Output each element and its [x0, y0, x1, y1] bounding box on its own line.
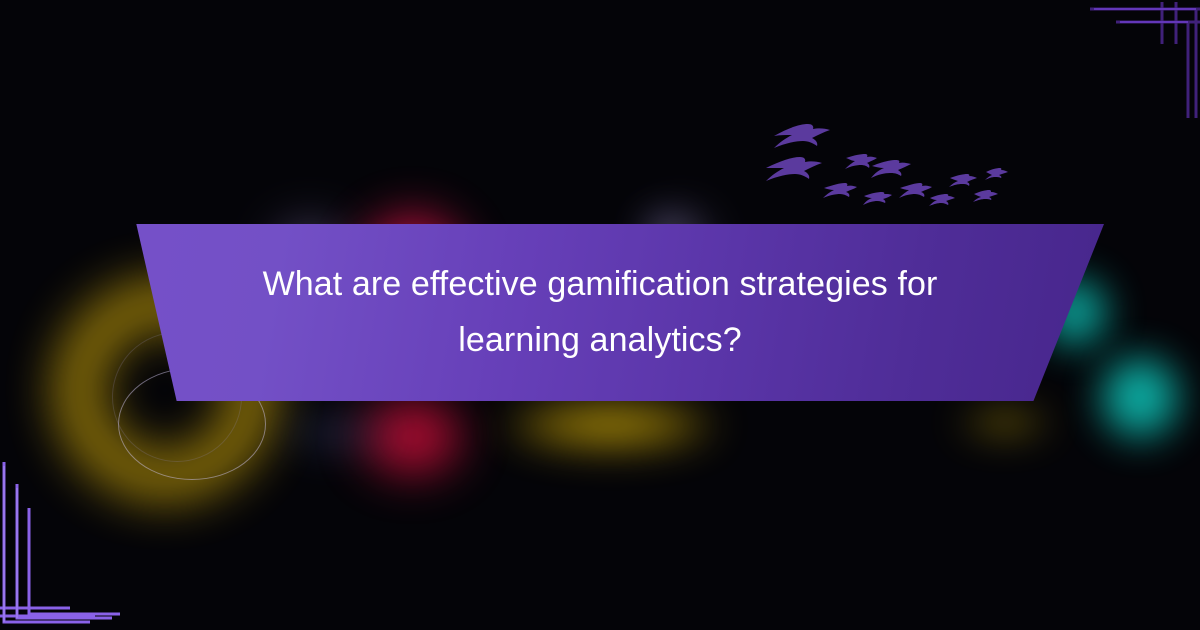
poster-canvas: What are effective gamification strategi…: [0, 0, 1200, 630]
question-banner: What are effective gamification strategi…: [96, 224, 1104, 401]
glow-blue-lower: [250, 400, 420, 465]
glow-yellow-right: [930, 395, 1080, 450]
bird-flock-icon: [760, 112, 1010, 222]
corner-lines-bottom-left-icon: [0, 440, 160, 630]
question-text: What are effective gamification strategi…: [210, 257, 990, 367]
corner-lines-top-right-icon: [1050, 0, 1200, 120]
glow-teal-lower: [1075, 330, 1200, 465]
